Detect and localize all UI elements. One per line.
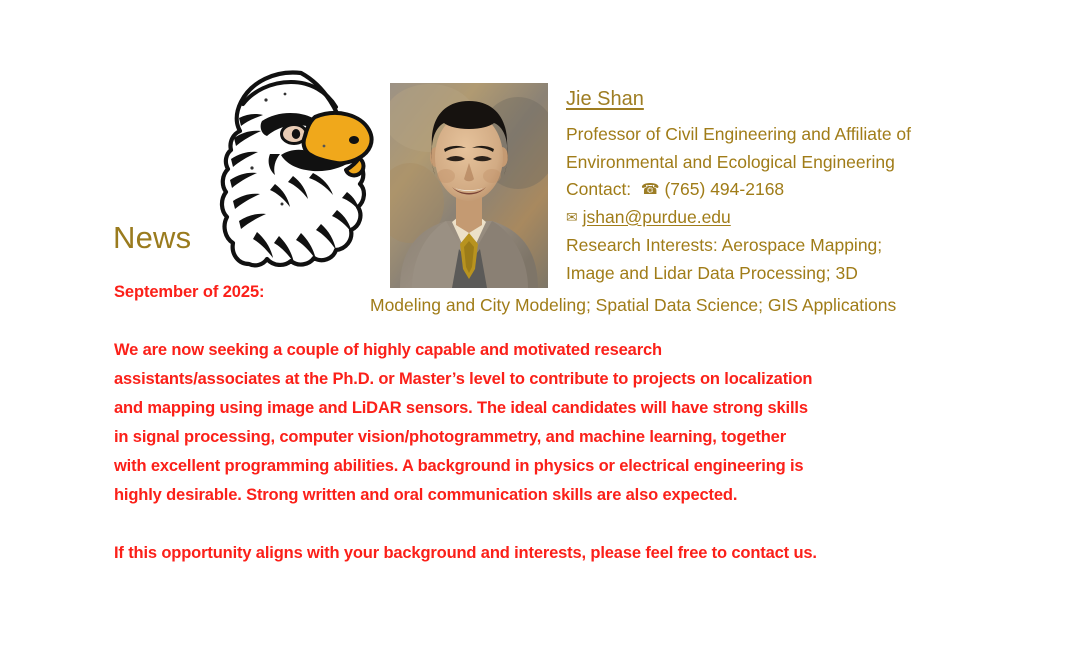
announcement-closing-line: If this opportunity aligns with your bac…	[114, 539, 994, 568]
page-title: News	[113, 219, 191, 257]
profile-email-line: ✉ jshan@purdue.edu	[566, 204, 966, 233]
announcement-line: assistants/associates at the Ph.D. or Ma…	[114, 365, 994, 394]
phone-number: (765) 494-2168	[664, 179, 784, 199]
announcement-line: highly desirable. Strong written and ora…	[114, 481, 994, 510]
profile-details: Professor of Civil Engineering and Affil…	[566, 121, 966, 287]
announcement-line: in signal processing, computer vision/ph…	[114, 423, 994, 452]
news-page: News September of 2025:	[0, 0, 1080, 658]
email-link[interactable]: jshan@purdue.edu	[583, 207, 731, 227]
profile-title-line-1: Professor of Civil Engineering and Affil…	[566, 121, 966, 149]
announcement-text: We are now seeking a couple of highly ca…	[114, 336, 994, 568]
profile-name-link[interactable]: Jie Shan	[566, 86, 644, 112]
contact-label: Contact:	[566, 179, 631, 199]
research-interests-line-2: Image and Lidar Data Processing; 3D	[566, 260, 966, 288]
portrait-photo	[390, 83, 548, 288]
profile-contact-line: Contact: ☎ (765) 494-2168	[566, 176, 966, 204]
announcement-line: We are now seeking a couple of highly ca…	[114, 336, 994, 365]
eagle-head-logo	[205, 58, 377, 270]
announcement-line: with excellent programming abilities. A …	[114, 452, 994, 481]
telephone-icon: ☎	[641, 176, 660, 204]
eagle-head-shape	[222, 73, 372, 266]
paragraph-spacer	[114, 510, 994, 539]
profile-title-line-2: Environmental and Ecological Engineering	[566, 149, 966, 177]
profile-block: Jie Shan Professor of Civil Engineering …	[566, 86, 966, 287]
announcement-line: and mapping using image and LiDAR sensor…	[114, 394, 994, 423]
news-date-label: September of 2025:	[114, 283, 264, 302]
envelope-icon: ✉	[566, 205, 578, 233]
research-interests-line-1: Research Interests: Aerospace Mapping;	[566, 232, 966, 260]
research-interests-line-3: Modeling and City Modeling; Spatial Data…	[370, 292, 896, 320]
